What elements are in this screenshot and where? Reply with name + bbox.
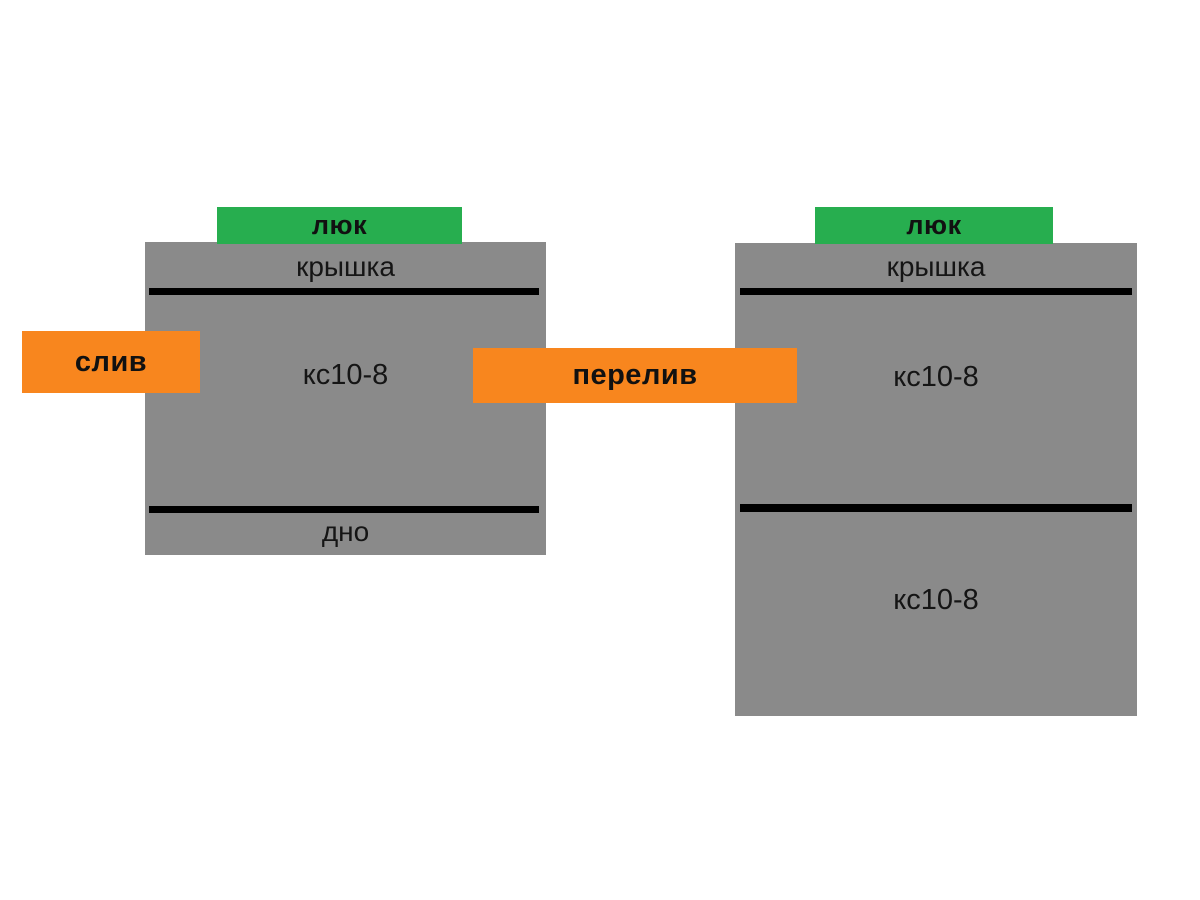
hatch-left-label: люк <box>312 210 367 241</box>
drain-pipe-label: слив <box>75 346 147 379</box>
hatch-left: люк <box>217 207 462 244</box>
well-left-cover-divider-line <box>149 288 539 295</box>
overflow-pipe: перелив <box>473 348 797 403</box>
overflow-pipe-label: перелив <box>572 359 697 392</box>
drain-pipe: слив <box>22 331 200 393</box>
hatch-right: люк <box>815 207 1053 244</box>
well-right-body <box>735 243 1137 716</box>
hatch-right-label: люк <box>906 210 961 241</box>
well-left-bottom-divider-line <box>149 506 539 513</box>
well-right-ring-divider-line <box>740 504 1132 512</box>
septic-scheme-diagram: люк крышка кс10-8 дно люк крышка кс10-8 … <box>0 0 1200 900</box>
well-right-cover-divider-line <box>740 288 1132 295</box>
